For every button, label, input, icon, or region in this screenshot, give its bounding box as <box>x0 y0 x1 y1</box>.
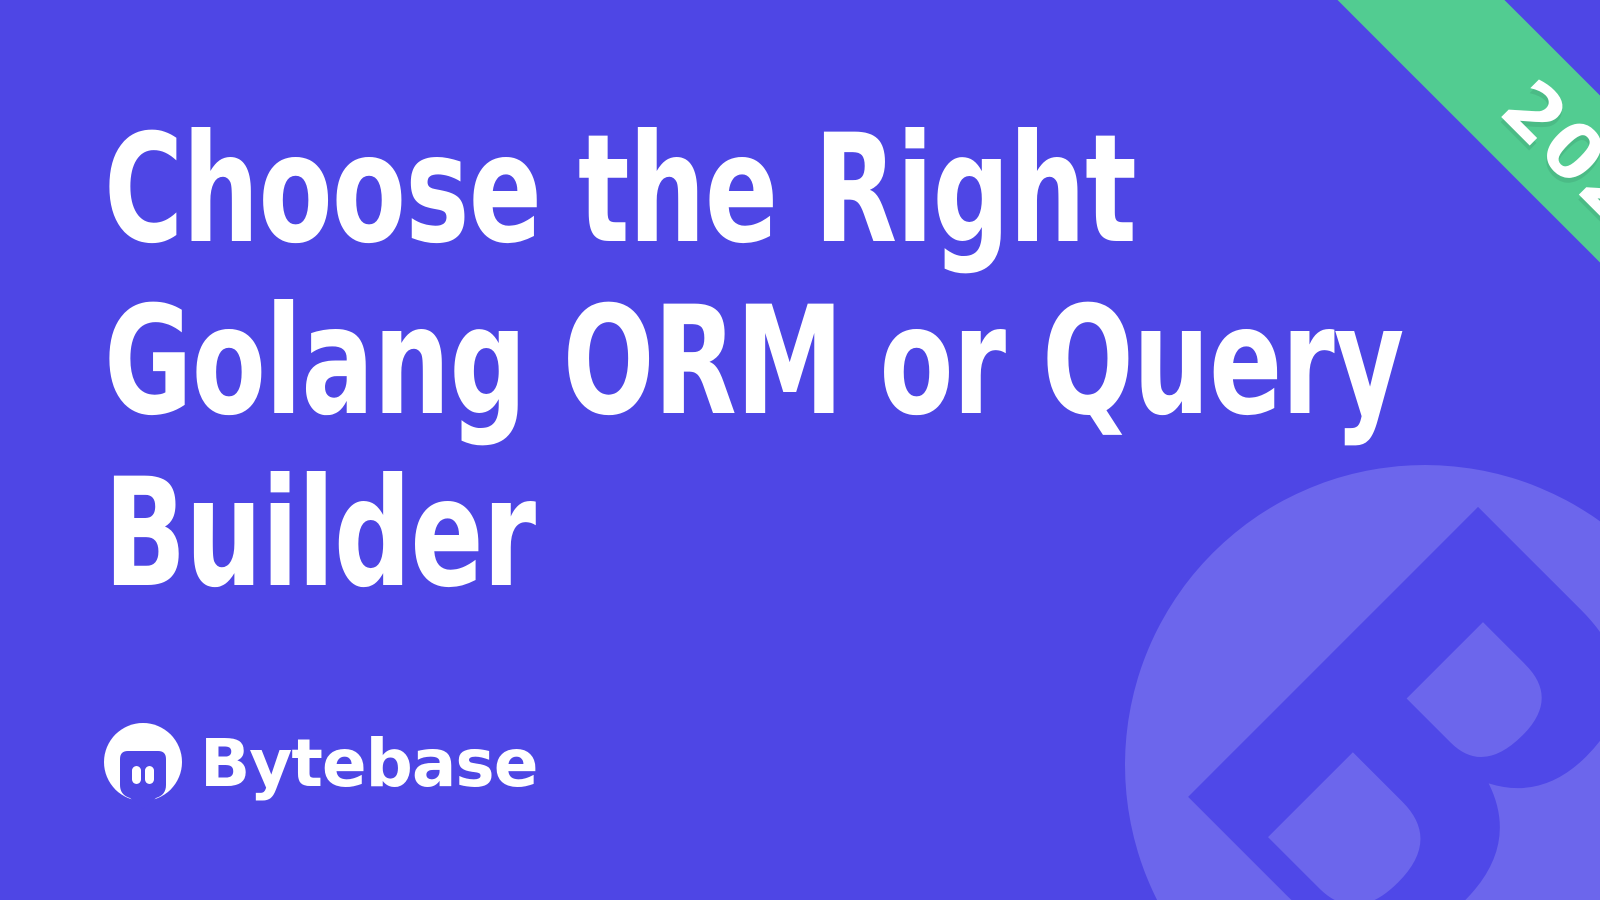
bytebase-logo-icon <box>104 723 182 809</box>
headline-line-1: Choose the Right <box>104 104 1048 276</box>
social-card: 2025 Choose the Right Golang ORM or Quer… <box>0 0 1600 900</box>
headline-line-2: Golang ORM or Query <box>104 276 1048 448</box>
brand-name-label: Bytebase <box>200 731 537 797</box>
brand-lockup: Bytebase <box>104 723 537 809</box>
page-title: Choose the Right Golang ORM or Query Bui… <box>104 104 1284 620</box>
headline-line-3: Builder <box>104 448 1048 620</box>
ribbon-year-label: 2025 <box>1489 68 1600 277</box>
